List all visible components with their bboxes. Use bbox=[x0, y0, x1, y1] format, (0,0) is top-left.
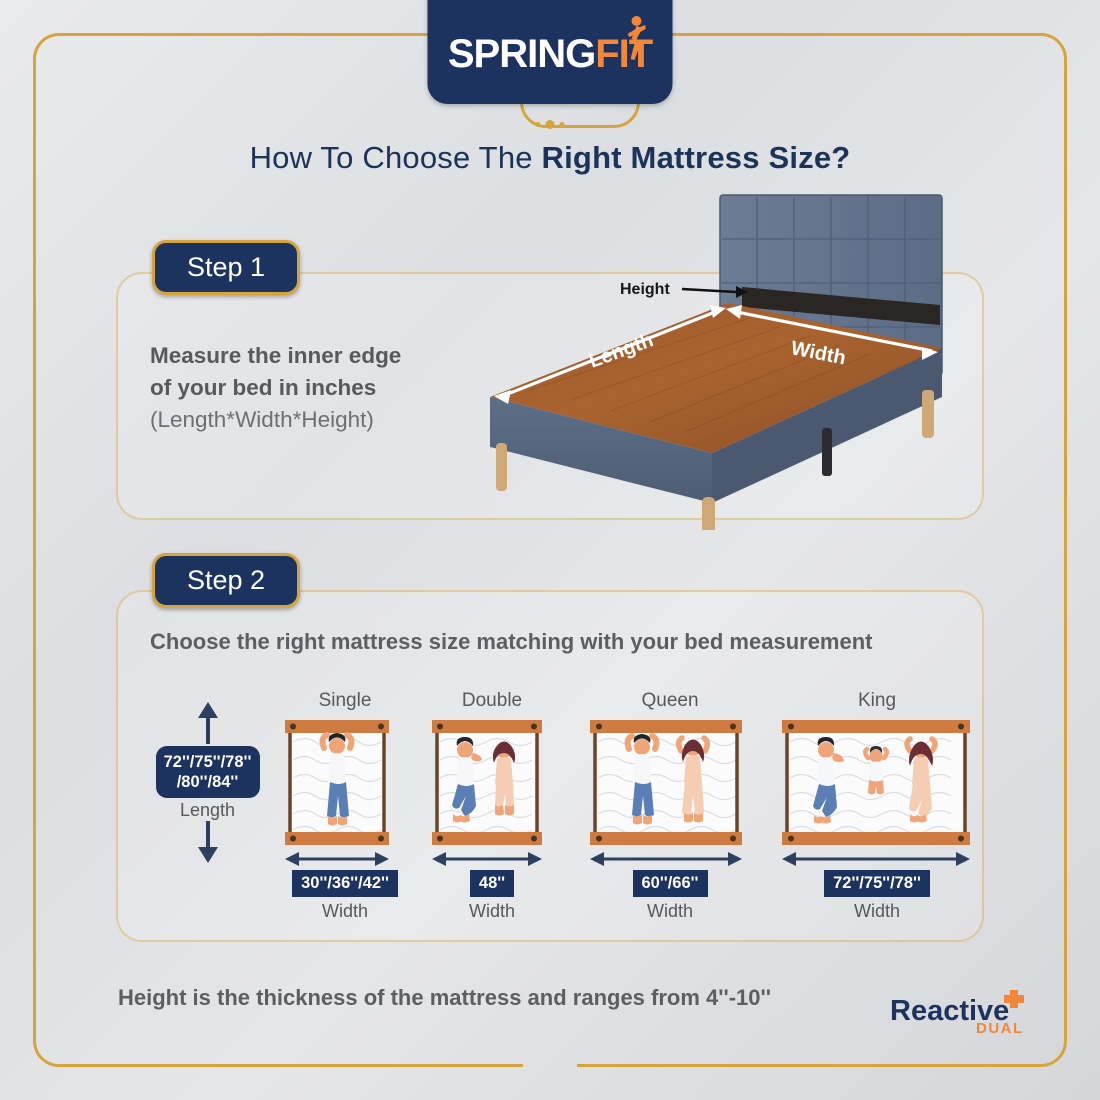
runner-icon bbox=[624, 15, 646, 61]
width-arrow-queen bbox=[590, 851, 750, 867]
width-value-badge: 30''/36''/42'' bbox=[292, 870, 398, 897]
step2-instructions: Choose the right mattress size matching … bbox=[150, 626, 890, 657]
size-name: Double bbox=[432, 690, 552, 712]
page-title-bold: Right Mattress Size? bbox=[542, 140, 851, 175]
size-column-single: Single bbox=[285, 690, 405, 922]
width-arrow-single bbox=[285, 851, 405, 867]
width-value-badge: 60''/66'' bbox=[633, 870, 708, 897]
reactive-dual-logo: Reactive DUAL bbox=[890, 988, 1050, 1036]
step1-badge: Step 1 bbox=[152, 240, 300, 295]
size-column-queen: Queen bbox=[590, 690, 750, 922]
step2-badge: Step 2 bbox=[152, 553, 300, 608]
page-title: How To Choose The Right Mattress Size? bbox=[0, 140, 1100, 176]
frame-ornament bbox=[536, 120, 565, 129]
step1-line2: of your bed in inches bbox=[150, 372, 480, 404]
size-name: Single bbox=[285, 690, 405, 712]
arrow-down-icon bbox=[197, 821, 219, 863]
mattress-illustration-double bbox=[432, 720, 552, 845]
width-value-badge: 72''/75''/78'' bbox=[824, 870, 930, 897]
bed-height-label: Height bbox=[620, 281, 670, 298]
length-indicator: 72''/75''/78'' /80''/84'' Length bbox=[150, 702, 265, 863]
width-label: Width bbox=[590, 901, 750, 922]
length-value-badge: 72''/75''/78'' /80''/84'' bbox=[156, 746, 260, 798]
brand-logo: SPRINGFIT bbox=[428, 0, 673, 104]
width-arrow-king bbox=[782, 851, 972, 867]
arrow-up-icon bbox=[197, 702, 219, 744]
size-column-double: Double bbox=[432, 690, 552, 922]
width-label: Width bbox=[782, 901, 972, 922]
step1-line1: Measure the inner edge bbox=[150, 340, 480, 372]
width-label: Width bbox=[285, 901, 405, 922]
step1-line3: (Length*Width*Height) bbox=[150, 404, 480, 436]
page-title-regular: How To Choose The bbox=[250, 140, 542, 175]
width-value-badge: 48'' bbox=[470, 870, 514, 897]
mattress-illustration-king bbox=[782, 720, 972, 845]
bed-illustration: Height Length Width bbox=[470, 185, 990, 530]
mattress-illustration-queen bbox=[590, 720, 750, 845]
length-label: Length bbox=[150, 800, 265, 821]
size-column-king: King bbox=[782, 690, 972, 922]
width-label: Width bbox=[432, 901, 552, 922]
dual-wordmark: DUAL bbox=[976, 1020, 1024, 1036]
logo-spring-text: SPRING bbox=[448, 32, 595, 76]
size-name: King bbox=[782, 690, 972, 712]
size-name: Queen bbox=[590, 690, 750, 712]
length-value-line2: /80''/84'' bbox=[164, 772, 252, 792]
mattress-illustration-single bbox=[285, 720, 405, 845]
footer-note: Height is the thickness of the mattress … bbox=[118, 985, 771, 1011]
length-value-line1: 72''/75''/78'' bbox=[164, 752, 252, 772]
step1-instructions: Measure the inner edge of your bed in in… bbox=[150, 340, 480, 436]
mattress-size-comparison: 72''/75''/78'' /80''/84'' Length Single bbox=[150, 690, 970, 940]
width-arrow-double bbox=[432, 851, 552, 867]
